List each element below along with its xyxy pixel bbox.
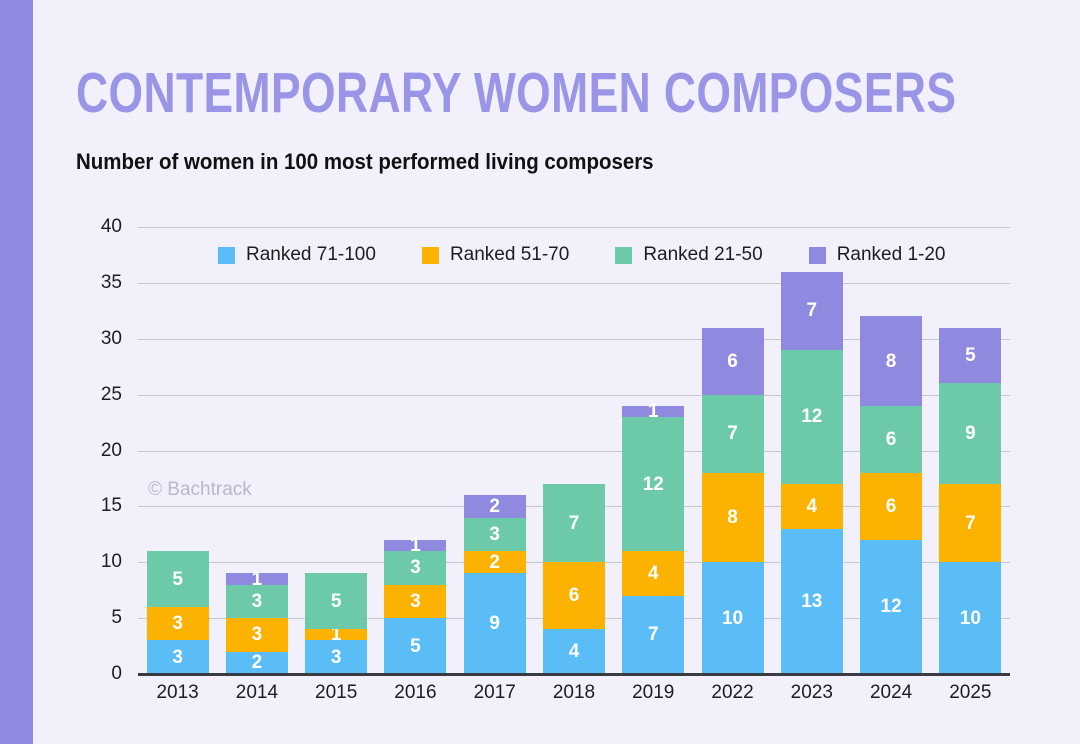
bar-segment-value: 1 [648, 402, 659, 421]
bar-segment[interactable]: 3 [226, 585, 288, 619]
bar-segment[interactable]: 3 [147, 607, 209, 641]
bar-segment-value: 7 [569, 514, 580, 533]
bar-segment[interactable]: 6 [860, 473, 922, 540]
bar-stack[interactable]: 134127 [781, 227, 843, 674]
bar-segment-value: 4 [569, 642, 580, 661]
bar-segment[interactable]: 2 [226, 652, 288, 674]
bar-segment[interactable]: 3 [226, 618, 288, 652]
legend-label: Ranked 71-100 [246, 244, 376, 266]
bar-segment-value: 3 [252, 592, 263, 611]
bar-segment-value: 5 [172, 570, 183, 589]
y-axis-tick: 25 [70, 384, 122, 406]
bar-segment-value: 4 [648, 564, 659, 583]
bar-segment[interactable]: 7 [543, 484, 605, 562]
legend-swatch [422, 247, 439, 264]
bar-segment-value: 5 [331, 592, 342, 611]
bar-segment[interactable]: 3 [147, 640, 209, 674]
bar-segment[interactable]: 5 [305, 573, 367, 629]
chart-page: CONTEMPORARY WOMEN COMPOSERS Number of w… [0, 0, 1080, 744]
left-accent-stripe [0, 0, 33, 744]
bar-segment-value: 8 [727, 508, 738, 527]
bar-segment[interactable]: 4 [622, 551, 684, 596]
x-axis-tick: 2024 [851, 682, 930, 704]
bar-segment[interactable]: 6 [702, 328, 764, 395]
bar-segment-value: 2 [489, 553, 500, 572]
bar-segment[interactable]: 7 [939, 484, 1001, 562]
x-axis-line [138, 673, 1010, 676]
y-axis-tick: 5 [70, 607, 122, 629]
x-axis-tick: 2013 [138, 682, 217, 704]
bar-segment[interactable]: 9 [464, 573, 526, 674]
bar-stack[interactable]: 467 [543, 227, 605, 674]
bar-segment[interactable]: 1 [305, 629, 367, 640]
bar-segment-value: 7 [807, 301, 818, 320]
legend-swatch [218, 247, 235, 264]
y-axis-tick: 40 [70, 216, 122, 238]
bar-segment[interactable]: 6 [543, 562, 605, 629]
page-subtitle: Number of women in 100 most performed li… [76, 148, 654, 176]
bar-segment[interactable]: 3 [384, 585, 446, 619]
bar-segment[interactable]: 13 [781, 529, 843, 674]
x-axis-tick: 2017 [455, 682, 534, 704]
bar-segment[interactable]: 1 [384, 540, 446, 551]
bar-segment-value: 9 [965, 424, 976, 443]
legend-swatch [615, 247, 632, 264]
bar-segment-value: 12 [801, 407, 822, 426]
bar-stack[interactable]: 2331 [226, 227, 288, 674]
bar-segment-value: 7 [727, 424, 738, 443]
bar-segment[interactable]: 9 [939, 383, 1001, 484]
bar-segment-value: 13 [801, 592, 822, 611]
bar-segment[interactable]: 10 [939, 562, 1001, 674]
bar-segment[interactable]: 1 [622, 406, 684, 417]
y-axis-tick: 20 [70, 440, 122, 462]
watermark: © Bachtrack [148, 479, 252, 501]
bar-segment-value: 3 [410, 592, 421, 611]
bar-segment[interactable]: 7 [781, 272, 843, 350]
x-axis-tick: 2014 [217, 682, 296, 704]
bar-segment[interactable]: 5 [384, 618, 446, 674]
bar-segment[interactable]: 8 [702, 473, 764, 562]
bar-segment[interactable]: 8 [860, 316, 922, 405]
bar-segment-value: 3 [489, 525, 500, 544]
bar-segment-value: 3 [172, 614, 183, 633]
y-axis-tick: 0 [70, 663, 122, 685]
bar-segment-value: 7 [648, 625, 659, 644]
bar-segment-value: 3 [331, 648, 342, 667]
bar-segment-value: 12 [881, 597, 902, 616]
legend-item[interactable]: Ranked 21-50 [615, 244, 762, 266]
bar-segment-value: 7 [965, 514, 976, 533]
x-axis-tick: 2025 [931, 682, 1010, 704]
bar-stack[interactable]: 9232 [464, 227, 526, 674]
y-axis-tick: 35 [70, 272, 122, 294]
bar-segment-value: 2 [489, 497, 500, 516]
bar-segment-value: 6 [727, 352, 738, 371]
bar-stack[interactable]: 335 [147, 227, 209, 674]
legend-label: Ranked 1-20 [837, 244, 946, 266]
x-axis-tick: 2018 [534, 682, 613, 704]
bar-segment-value: 9 [489, 614, 500, 633]
bar-segment[interactable]: 4 [781, 484, 843, 529]
bar-segment[interactable]: 4 [543, 629, 605, 674]
x-axis-tick: 2022 [693, 682, 772, 704]
bar-segment[interactable]: 2 [464, 495, 526, 517]
bar-stack[interactable]: 315 [305, 227, 367, 674]
y-axis-tick: 15 [70, 495, 122, 517]
bar-segment[interactable]: 12 [860, 540, 922, 674]
bar-segment[interactable]: 3 [384, 551, 446, 585]
bar-segment[interactable]: 3 [305, 640, 367, 674]
bar-stack[interactable]: 12668 [860, 227, 922, 674]
bar-segment[interactable]: 3 [464, 518, 526, 552]
x-axis-tick: 2015 [297, 682, 376, 704]
x-axis-tick: 2019 [614, 682, 693, 704]
legend-label: Ranked 51-70 [450, 244, 569, 266]
bar-segment[interactable]: 5 [939, 328, 1001, 384]
bar-segment-value: 1 [252, 570, 263, 589]
bar-segment[interactable]: 6 [860, 406, 922, 473]
bar-stack[interactable]: 10876 [702, 227, 764, 674]
bar-segment-value: 4 [807, 497, 818, 516]
bar-segment-value: 6 [886, 497, 897, 516]
bar-segment[interactable]: 5 [147, 551, 209, 607]
bar-segment[interactable]: 2 [464, 551, 526, 573]
bar-segment-value: 8 [886, 352, 897, 371]
bar-segment[interactable]: 7 [622, 596, 684, 674]
bar-segment-value: 6 [886, 430, 897, 449]
bar-stack[interactable]: 10795 [939, 227, 1001, 674]
bar-segment-value: 3 [410, 558, 421, 577]
bar-segment-value: 1 [410, 536, 421, 555]
chart-legend: Ranked 71-100Ranked 51-70Ranked 21-50Ran… [218, 244, 991, 266]
bar-stack[interactable]: 5331 [384, 227, 446, 674]
bar-segment-value: 3 [252, 625, 263, 644]
bar-segment-value: 6 [569, 586, 580, 605]
bar-segment-value: 3 [172, 648, 183, 667]
legend-label: Ranked 21-50 [643, 244, 762, 266]
bar-segment-value: 12 [643, 475, 664, 494]
bar-segment-value: 10 [960, 609, 981, 628]
bar-segment[interactable]: 12 [781, 350, 843, 484]
bar-stack[interactable]: 74121 [622, 227, 684, 674]
legend-item[interactable]: Ranked 51-70 [422, 244, 569, 266]
bar-segment[interactable]: 12 [622, 417, 684, 551]
legend-swatch [809, 247, 826, 264]
bar-segment-value: 2 [252, 653, 263, 672]
bar-segment[interactable]: 10 [702, 562, 764, 674]
bar-series-container: 3352331315533192324677412110876134127126… [138, 227, 1010, 674]
x-axis-tick: 2016 [376, 682, 455, 704]
chart-plot-area: 0510152025303540 33523313155331923246774… [138, 227, 1010, 674]
bar-segment-value: 10 [722, 609, 743, 628]
y-axis-tick: 30 [70, 328, 122, 350]
bar-segment[interactable]: 7 [702, 395, 764, 473]
bar-segment-value: 5 [410, 637, 421, 656]
bar-segment[interactable]: 1 [226, 573, 288, 584]
page-title: CONTEMPORARY WOMEN COMPOSERS [76, 62, 956, 124]
bar-segment-value: 5 [965, 346, 976, 365]
x-axis-tick: 2023 [772, 682, 851, 704]
legend-item[interactable]: Ranked 1-20 [809, 244, 946, 266]
legend-item[interactable]: Ranked 71-100 [218, 244, 376, 266]
y-axis-tick: 10 [70, 551, 122, 573]
